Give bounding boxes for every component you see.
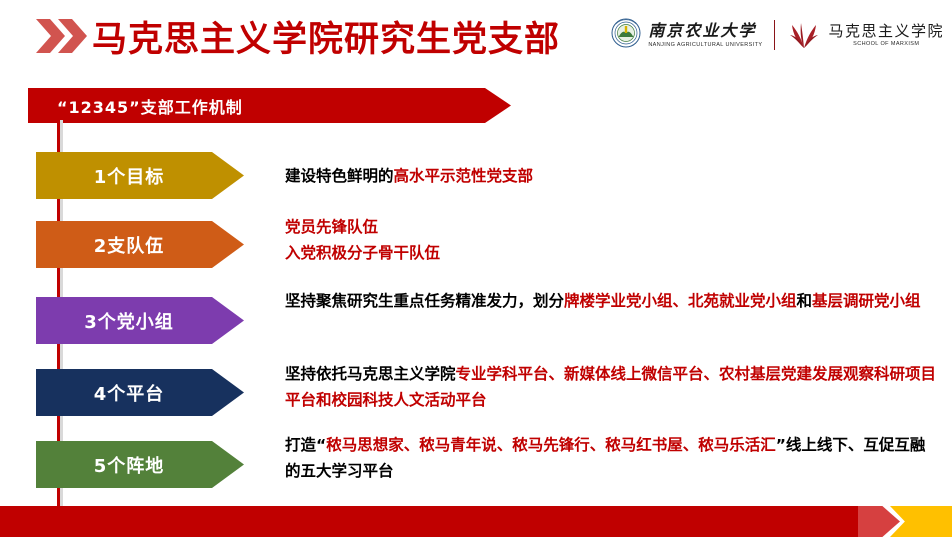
plain-text: 坚持依托马克思主义学院 — [285, 365, 456, 383]
row-chevron-party-groups[interactable]: 3个党小组 — [36, 297, 244, 344]
highlighted-text: 入党积极分子骨干队伍 — [285, 244, 440, 262]
logo-marxism-name-cn: 马克思主义学院 — [828, 23, 944, 40]
row-chevron-label: 4个平台 — [94, 380, 187, 406]
row-chevron-goal[interactable]: 1个目标 — [36, 152, 244, 199]
section-banner-label: “12345”支部工作机制 — [57, 94, 243, 118]
row-chevron-platforms[interactable]: 4个平台 — [36, 369, 244, 416]
row-description-party-groups: 坚持聚焦研究生重点任务精准发力，划分牌楼学业党小组、北苑就业党小组和基层调研党小… — [285, 288, 940, 314]
school-of-marxism-flame-icon — [787, 17, 821, 54]
plain-text: 坚持聚焦研究生重点任务精准发力，划分 — [285, 292, 564, 310]
highlighted-text: 秾马思想家、秾马青年说、秾马先锋行、秾马红书屋、秾马乐活汇 — [326, 436, 776, 454]
highlighted-text: 党员先锋队伍 — [285, 218, 378, 236]
highlighted-text: 牌楼学业党小组、北苑就业党小组 — [564, 292, 797, 310]
row-description-line: 建设特色鲜明的高水平示范性党支部 — [285, 163, 940, 189]
logo-nau-name-en: NANJING AGRICULTURAL UNIVERSITY — [648, 42, 762, 48]
footer-chevron-accent-icon — [858, 506, 900, 537]
row-description-line: 入党积极分子骨干队伍 — [285, 240, 940, 266]
row-chevron-label: 2支队伍 — [94, 232, 187, 258]
slide-header: 马克思主义学院研究生党支部 南京农业大学 NANJING AGRICULTUR — [0, 0, 952, 72]
plain-text: 打造“ — [285, 436, 326, 454]
row-description-line: 坚持依托马克思主义学院专业学科平台、新媒体线上微信平台、农村基层党建发展观察科研… — [285, 361, 940, 413]
row-description-line: 打造“秾马思想家、秾马青年说、秾马先锋行、秾马红书屋、秾马乐活汇”线上线下、互促… — [285, 432, 940, 484]
section-banner: “12345”支部工作机制 — [28, 88, 511, 123]
page-title: 马克思主义学院研究生党支部 — [92, 11, 560, 62]
highlighted-text: 高水平示范性党支部 — [394, 167, 534, 185]
logo-school-of-marxism: 马克思主义学院 SCHOOL OF MARXISM — [787, 12, 944, 58]
plain-text: 建设特色鲜明的 — [285, 167, 394, 185]
row-description-positions: 打造“秾马思想家、秾马青年说、秾马先锋行、秾马红书屋、秾马乐活汇”线上线下、互促… — [285, 432, 940, 484]
row-description-platforms: 坚持依托马克思主义学院专业学科平台、新媒体线上微信平台、农村基层党建发展观察科研… — [285, 361, 940, 413]
logo-block: 南京农业大学 NANJING AGRICULTURAL UNIVERSITY — [611, 12, 944, 58]
logo-marxism-name-en: SCHOOL OF MARXISM — [828, 41, 944, 47]
highlighted-text: 基层调研党小组 — [812, 292, 921, 310]
row-chevron-teams[interactable]: 2支队伍 — [36, 221, 244, 268]
row-chevron-label: 5个阵地 — [94, 452, 187, 478]
nau-seal-icon — [611, 18, 641, 53]
row-description-line: 坚持聚焦研究生重点任务精准发力，划分牌楼学业党小组、北苑就业党小组和基层调研党小… — [285, 288, 940, 314]
footer-bar — [0, 506, 880, 537]
plain-text: 和 — [797, 292, 813, 310]
row-description-line: 党员先锋队伍 — [285, 214, 940, 240]
slide-canvas: 马克思主义学院研究生党支部 南京农业大学 NANJING AGRICULTUR — [0, 0, 952, 537]
row-chevron-positions[interactable]: 5个阵地 — [36, 441, 244, 488]
logo-divider — [774, 20, 775, 50]
row-description-goal: 建设特色鲜明的高水平示范性党支部 — [285, 163, 940, 189]
logo-nau-name-cn: 南京农业大学 — [648, 22, 762, 40]
row-chevron-label: 3个党小组 — [84, 308, 196, 334]
row-chevron-label: 1个目标 — [94, 163, 187, 189]
row-description-teams: 党员先锋队伍入党积极分子骨干队伍 — [285, 214, 940, 266]
double-chevron-right-icon — [36, 19, 88, 53]
logo-nanjing-agricultural-university: 南京农业大学 NANJING AGRICULTURAL UNIVERSITY — [611, 12, 762, 58]
